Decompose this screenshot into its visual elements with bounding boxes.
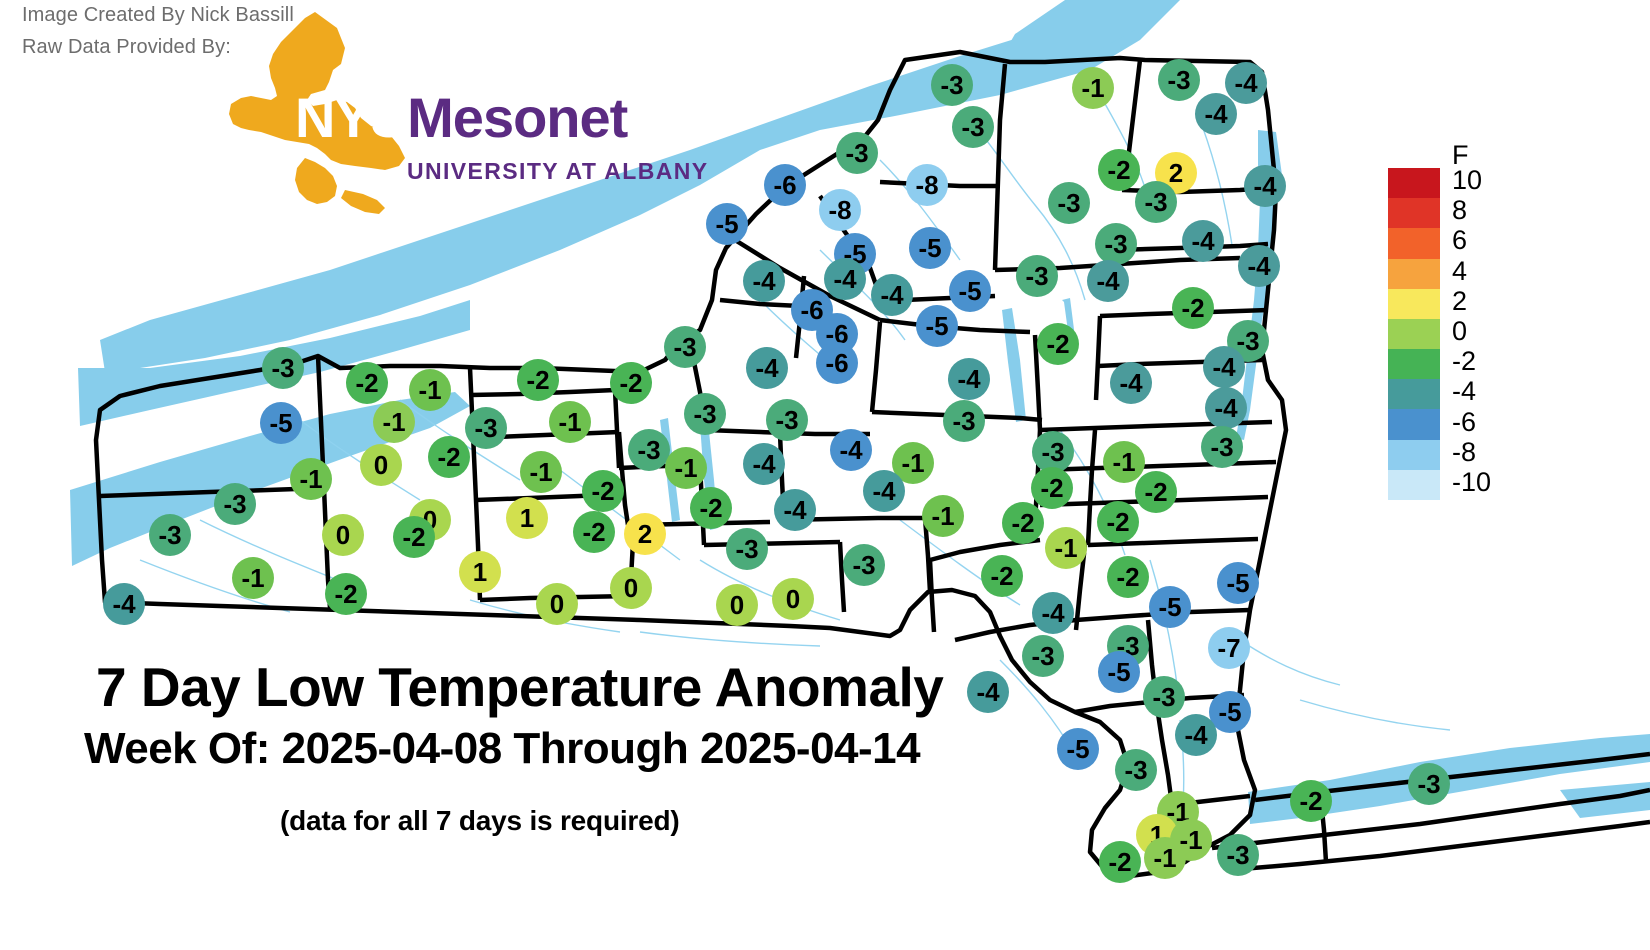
data-requirement-note: (data for all 7 days is required) — [280, 805, 680, 837]
station-value: -4 — [1096, 268, 1119, 294]
logo-subtitle: UNIVERSITY AT ALBANY — [407, 158, 708, 185]
station-value: -2 — [582, 519, 605, 545]
station-value: -8 — [828, 197, 851, 223]
station-value: -3 — [852, 552, 875, 578]
station-value: -3 — [223, 491, 246, 517]
station-marker: -3 — [766, 399, 808, 441]
station-marker: -4 — [948, 358, 990, 400]
station-marker: 2 — [624, 513, 666, 555]
station-value: -6 — [800, 297, 823, 323]
station-value: -2 — [1046, 331, 1069, 357]
station-value: -3 — [952, 408, 975, 434]
station-value: -2 — [402, 524, 425, 550]
station-value: -3 — [474, 415, 497, 441]
station-marker: -5 — [916, 305, 958, 347]
station-value: -3 — [1025, 263, 1048, 289]
station-value: -4 — [112, 591, 135, 617]
station-marker: -1 — [232, 557, 274, 599]
station-value: -2 — [355, 370, 378, 396]
station-value: 0 — [374, 452, 388, 478]
station-value: -5 — [925, 313, 948, 339]
station-marker: -3 — [684, 393, 726, 435]
station-value: -3 — [775, 407, 798, 433]
station-value: -4 — [1191, 228, 1214, 254]
station-marker: -1 — [520, 451, 562, 493]
station-marker: -1 — [290, 458, 332, 500]
station-marker: -3 — [465, 407, 507, 449]
station-marker: -2 — [582, 470, 624, 512]
colorbar-tick: 8 — [1452, 197, 1467, 224]
station-value: 0 — [550, 591, 564, 617]
station-value: -2 — [526, 367, 549, 393]
station-value: -3 — [158, 522, 181, 548]
station-marker: -4 — [103, 583, 145, 625]
station-value: -3 — [961, 114, 984, 140]
logo-text-nys: NYS — [295, 86, 407, 149]
station-marker: -3 — [943, 400, 985, 442]
colorbar-swatch — [1388, 319, 1440, 349]
station-value: 0 — [624, 575, 638, 601]
station-marker: -6 — [816, 342, 858, 384]
station-value: -2 — [619, 370, 642, 396]
colorbar-swatch — [1388, 349, 1440, 379]
station-value: -2 — [1144, 479, 1167, 505]
station-marker: -4 — [746, 347, 788, 389]
station-marker: -5 — [260, 402, 302, 444]
station-marker: 1 — [459, 551, 501, 593]
station-value: -3 — [1031, 643, 1054, 669]
station-marker: -4 — [743, 260, 785, 302]
station-marker: -5 — [1057, 728, 1099, 770]
station-marker: 0 — [716, 584, 758, 626]
station-value: -4 — [833, 266, 856, 292]
station-value: -4 — [1247, 253, 1270, 279]
station-value: -1 — [241, 565, 264, 591]
station-marker: -3 — [931, 64, 973, 106]
station-value: -3 — [1041, 439, 1064, 465]
station-value: -4 — [1234, 70, 1257, 96]
station-marker: -3 — [262, 347, 304, 389]
station-value: 1 — [473, 559, 487, 585]
station-value: 0 — [730, 592, 744, 618]
station-value: -3 — [1210, 434, 1233, 460]
station-marker: -2 — [1172, 287, 1214, 329]
colorbar-swatch — [1388, 470, 1440, 500]
colorbar — [1388, 168, 1440, 500]
station-value: -8 — [915, 172, 938, 198]
station-value: -3 — [673, 334, 696, 360]
station-value: -4 — [1119, 370, 1142, 396]
station-value: -1 — [901, 450, 924, 476]
station-value: -2 — [1040, 475, 1063, 501]
station-marker: -6 — [764, 164, 806, 206]
station-value: -6 — [825, 350, 848, 376]
station-marker: -1 — [1045, 527, 1087, 569]
station-marker: -7 — [1208, 627, 1250, 669]
colorbar-swatch — [1388, 259, 1440, 289]
station-value: -4 — [957, 366, 980, 392]
station-value: -3 — [845, 140, 868, 166]
station-value: -2 — [1011, 510, 1034, 536]
station-value: -2 — [1299, 788, 1322, 814]
station-value: -4 — [1204, 101, 1227, 127]
station-value: -1 — [1112, 449, 1135, 475]
station-marker: 0 — [536, 583, 578, 625]
station-value: -3 — [940, 72, 963, 98]
station-marker: -3 — [1201, 426, 1243, 468]
station-marker: -2 — [325, 573, 367, 615]
station-marker: -2 — [981, 555, 1023, 597]
station-value: 0 — [786, 586, 800, 612]
station-marker: -4 — [1205, 387, 1247, 429]
station-marker: -8 — [819, 189, 861, 231]
station-value: -5 — [269, 410, 292, 436]
station-value: -3 — [1057, 190, 1080, 216]
station-marker: -5 — [1149, 586, 1191, 628]
colorbar-tick: 0 — [1452, 318, 1467, 345]
station-value: -5 — [1158, 594, 1181, 620]
station-marker: -4 — [830, 429, 872, 471]
station-marker: -3 — [1115, 749, 1157, 791]
colorbar-tick: 2 — [1452, 288, 1467, 315]
station-marker: -2 — [346, 362, 388, 404]
colorbar-swatch — [1388, 379, 1440, 409]
station-value: -1 — [299, 466, 322, 492]
station-marker: -5 — [1217, 562, 1259, 604]
station-marker: -4 — [871, 274, 913, 316]
station-marker: -3 — [1022, 635, 1064, 677]
station-value: -4 — [880, 282, 903, 308]
station-value: -2 — [1181, 295, 1204, 321]
station-marker: -1 — [665, 447, 707, 489]
nys-mesonet-logo: NYSMesonet UNIVERSITY AT ALBANY — [185, 8, 655, 223]
station-marker: -1 — [1103, 441, 1145, 483]
station-value: -4 — [783, 497, 806, 523]
station-value: -3 — [735, 536, 758, 562]
station-value: -2 — [990, 563, 1013, 589]
station-marker: -3 — [1048, 182, 1090, 224]
station-marker: -8 — [906, 164, 948, 206]
station-marker: 0 — [610, 567, 652, 609]
station-value: -5 — [1066, 736, 1089, 762]
colorbar-swatch — [1388, 409, 1440, 439]
station-marker: -4 — [1087, 260, 1129, 302]
station-value: -2 — [334, 581, 357, 607]
station-value: -2 — [1107, 157, 1130, 183]
station-marker: -3 — [664, 326, 706, 368]
station-value: -4 — [755, 355, 778, 381]
station-value: -5 — [715, 211, 738, 237]
station-value: -1 — [1054, 535, 1077, 561]
colorbar-swatch — [1388, 198, 1440, 228]
colorbar-swatch — [1388, 168, 1440, 198]
station-marker: -1 — [922, 495, 964, 537]
station-value: -1 — [529, 459, 552, 485]
station-marker: -1 — [1072, 67, 1114, 109]
station-marker: -5 — [706, 203, 748, 245]
station-value: -1 — [1153, 845, 1176, 871]
station-value: -3 — [1152, 684, 1175, 710]
station-value: -5 — [1218, 699, 1241, 725]
station-marker: -2 — [428, 436, 470, 478]
station-marker: 0 — [322, 514, 364, 556]
station-marker: -2 — [1097, 501, 1139, 543]
station-value: -1 — [1081, 75, 1104, 101]
station-marker: -1 — [409, 369, 451, 411]
station-value: -4 — [1184, 722, 1207, 748]
station-marker: -2 — [1099, 841, 1141, 883]
station-marker: -3 — [1158, 59, 1200, 101]
station-value: 0 — [336, 522, 350, 548]
logo-wordmark: NYSMesonet — [295, 90, 627, 146]
colorbar-swatch — [1388, 440, 1440, 470]
station-marker: -4 — [1110, 362, 1152, 404]
page-title: 7 Day Low Temperature Anomaly — [96, 655, 943, 719]
station-value: -2 — [1116, 564, 1139, 590]
station-marker: -3 — [836, 132, 878, 174]
station-value: -4 — [1212, 354, 1235, 380]
station-value: -3 — [1167, 67, 1190, 93]
station-value: -7 — [1217, 635, 1240, 661]
station-marker: -2 — [1031, 467, 1073, 509]
station-value: 1 — [520, 505, 534, 531]
station-value: -4 — [976, 679, 999, 705]
station-marker: -4 — [1244, 165, 1286, 207]
station-value: -3 — [1236, 328, 1259, 354]
station-marker: -4 — [743, 443, 785, 485]
colorbar-tick: -6 — [1452, 409, 1476, 436]
station-value: 2 — [1169, 160, 1183, 186]
station-value: -6 — [773, 172, 796, 198]
colorbar-tick: 4 — [1452, 258, 1467, 285]
station-marker: -3 — [628, 429, 670, 471]
station-value: -1 — [418, 377, 441, 403]
station-marker: -2 — [1098, 149, 1140, 191]
station-value: -4 — [1214, 395, 1237, 421]
station-value: -1 — [382, 409, 405, 435]
station-marker: 1 — [506, 497, 548, 539]
station-value: -1 — [558, 409, 581, 435]
station-value: -1 — [931, 503, 954, 529]
station-value: -4 — [872, 478, 895, 504]
station-marker: -3 — [1135, 181, 1177, 223]
colorbar-tick: -2 — [1452, 348, 1476, 375]
station-marker: -4 — [1182, 220, 1224, 262]
station-value: -3 — [637, 437, 660, 463]
station-marker: -3 — [952, 106, 994, 148]
colorbar-swatch — [1388, 228, 1440, 258]
station-marker: -3 — [214, 483, 256, 525]
station-marker: -3 — [1016, 255, 1058, 297]
station-marker: -2 — [1037, 323, 1079, 365]
station-marker: -4 — [1032, 592, 1074, 634]
station-value: -3 — [693, 401, 716, 427]
station-marker: -4 — [967, 671, 1009, 713]
station-marker: -5 — [909, 227, 951, 269]
station-marker: -3 — [1408, 763, 1450, 805]
station-marker: -3 — [843, 544, 885, 586]
station-marker: -2 — [1107, 556, 1149, 598]
station-marker: -1 — [549, 401, 591, 443]
station-marker: -4 — [863, 470, 905, 512]
station-marker: -4 — [1225, 62, 1267, 104]
colorbar-tick: -8 — [1452, 439, 1476, 466]
station-value: -2 — [699, 495, 722, 521]
station-marker: -3 — [726, 528, 768, 570]
station-marker: -2 — [1002, 502, 1044, 544]
station-value: -4 — [752, 268, 775, 294]
colorbar-tick: -4 — [1452, 378, 1476, 405]
station-marker: -4 — [1195, 93, 1237, 135]
station-marker: -2 — [610, 362, 652, 404]
colorbar-tick: -10 — [1452, 469, 1491, 496]
station-marker: -1 — [373, 401, 415, 443]
date-range-subtitle: Week Of: 2025-04-08 Through 2025-04-14 — [84, 724, 920, 774]
station-value: -5 — [1226, 570, 1249, 596]
station-value: 2 — [638, 521, 652, 547]
station-value: -5 — [1107, 659, 1130, 685]
station-marker: -3 — [1217, 834, 1259, 876]
station-value: -4 — [1041, 600, 1064, 626]
station-value: -3 — [1124, 757, 1147, 783]
station-marker: -2 — [690, 487, 732, 529]
station-marker: -2 — [1290, 780, 1332, 822]
station-marker: -3 — [1095, 223, 1137, 265]
station-marker: -4 — [774, 489, 816, 531]
map-canvas: Image Created By Nick Bassill Raw Data P… — [0, 0, 1650, 950]
station-value: -2 — [1106, 509, 1129, 535]
station-marker: -2 — [393, 516, 435, 558]
station-marker: -4 — [824, 258, 866, 300]
station-marker: -2 — [573, 511, 615, 553]
station-value: -2 — [591, 478, 614, 504]
station-marker: -5 — [1098, 651, 1140, 693]
station-marker: -1 — [1144, 837, 1186, 879]
colorbar-tick: 10 — [1452, 167, 1482, 194]
station-marker: -3 — [149, 514, 191, 556]
station-value: -3 — [1144, 189, 1167, 215]
station-value: -3 — [1226, 842, 1249, 868]
station-value: -5 — [918, 235, 941, 261]
station-marker: 0 — [772, 578, 814, 620]
station-value: -1 — [674, 455, 697, 481]
station-value: -3 — [271, 355, 294, 381]
station-value: -2 — [1108, 849, 1131, 875]
station-marker: -4 — [1175, 714, 1217, 756]
station-value: -4 — [1253, 173, 1276, 199]
colorbar-tick: 6 — [1452, 227, 1467, 254]
colorbar-swatch — [1388, 289, 1440, 319]
station-marker: 0 — [360, 444, 402, 486]
station-value: -3 — [1417, 771, 1440, 797]
station-value: -4 — [839, 437, 862, 463]
station-marker: -2 — [1135, 471, 1177, 513]
station-value: -5 — [958, 278, 981, 304]
station-marker: -5 — [949, 270, 991, 312]
station-marker: -2 — [517, 359, 559, 401]
station-marker: -3 — [1143, 676, 1185, 718]
station-marker: -4 — [1238, 245, 1280, 287]
station-value: -4 — [752, 451, 775, 477]
logo-text-mesonet: Mesonet — [407, 86, 627, 149]
station-value: -3 — [1104, 231, 1127, 257]
station-value: -2 — [437, 444, 460, 470]
station-marker: -4 — [1203, 346, 1245, 388]
